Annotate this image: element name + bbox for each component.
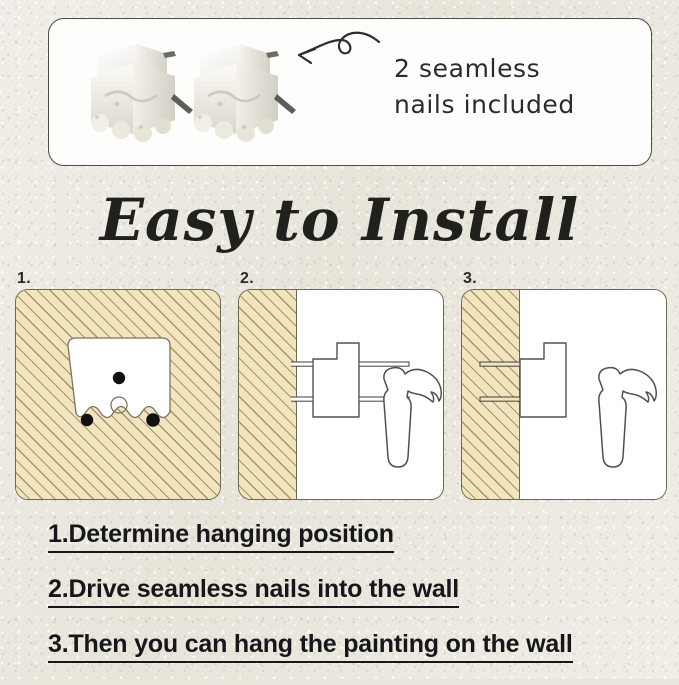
- hanger-front-view-icon: [60, 336, 178, 446]
- step-2: 2.: [238, 272, 444, 500]
- nails-caption-line2: nails included: [394, 87, 644, 123]
- instruction-line-3: 3.Then you can hang the painting on the …: [48, 630, 648, 663]
- wall-hatch-strip: [239, 290, 297, 499]
- step-1-number: 1.: [17, 270, 31, 288]
- step-3: 3.: [461, 272, 667, 500]
- instruction-text-3: 3.Then you can hang the painting on the …: [48, 630, 573, 663]
- step-2-number: 2.: [240, 270, 254, 288]
- instruction-line-2: 2.Drive seamless nails into the wall: [48, 575, 648, 608]
- step-2-panel: [238, 289, 444, 500]
- nail-line: [291, 362, 313, 366]
- nails-caption: 2 seamless nails included: [394, 51, 644, 122]
- nails-included-card: 2 seamless nails included: [48, 18, 652, 166]
- step-1-panel: [15, 289, 221, 500]
- nail-hole-dot: [146, 413, 160, 427]
- steps-row: 1. 2.: [15, 272, 667, 500]
- nail-line: [291, 397, 313, 401]
- nails-caption-line1: 2 seamless: [394, 51, 644, 87]
- page-title: Easy to Install: [0, 186, 679, 254]
- hammer-icon: [372, 362, 444, 474]
- curved-arrow-icon: [261, 24, 391, 84]
- step-1: 1.: [15, 272, 221, 500]
- instructions-list: 1.Determine hanging position 2.Drive sea…: [48, 520, 648, 685]
- instruction-text-1: 1.Determine hanging position: [48, 520, 394, 553]
- instruction-text-2: 2.Drive seamless nails into the wall: [48, 575, 459, 608]
- hanger-side-mounted-icon: [476, 335, 586, 425]
- nail-hole-dot: [113, 372, 125, 384]
- step-3-panel: [461, 289, 667, 500]
- step-3-number: 3.: [463, 270, 477, 288]
- instruction-line-1: 1.Determine hanging position: [48, 520, 648, 553]
- hammer-icon: [587, 362, 659, 474]
- nail-hole-dot: [81, 414, 93, 426]
